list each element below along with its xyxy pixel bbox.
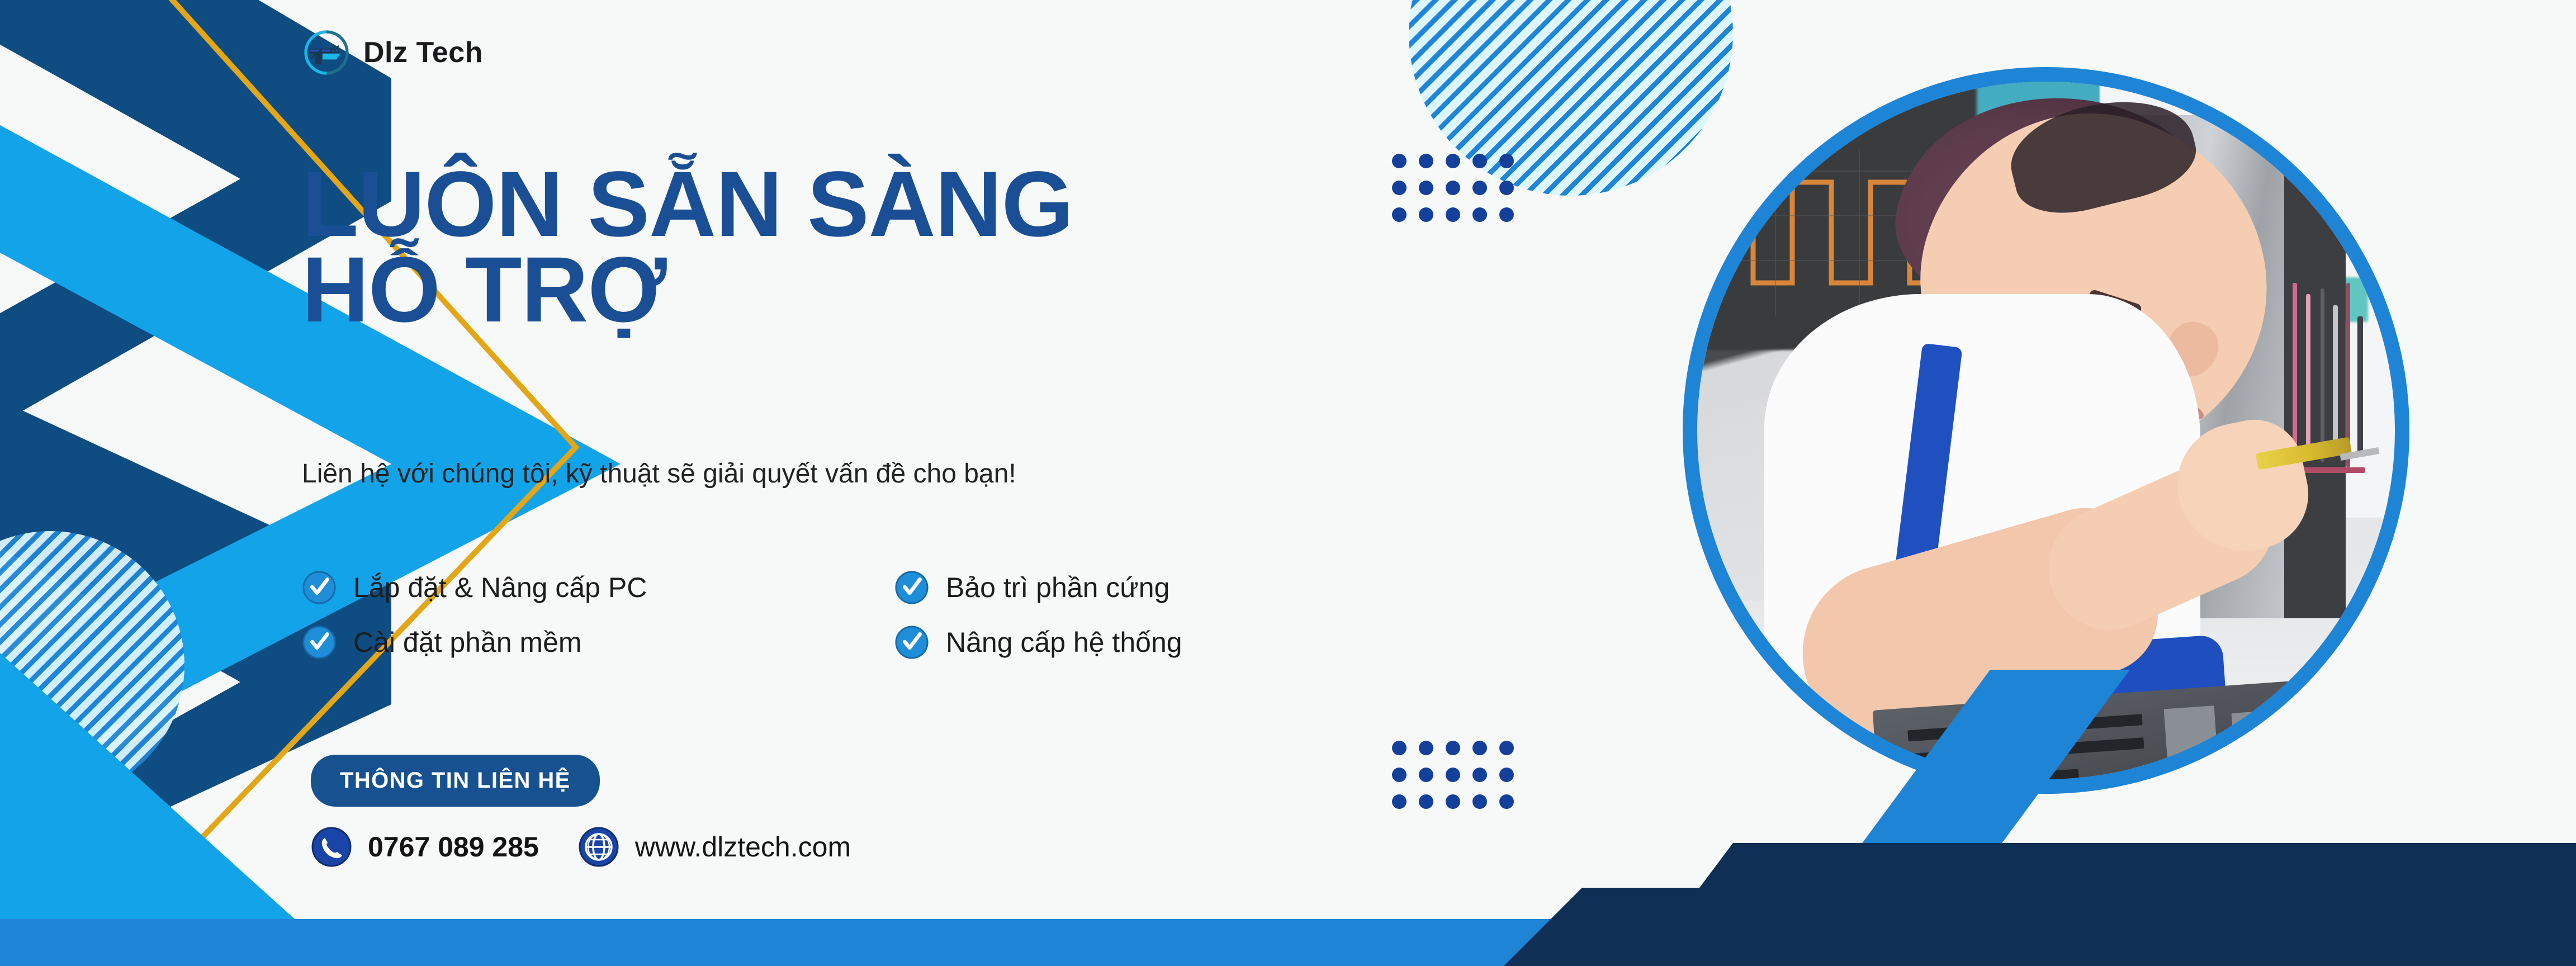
feature-item: Bảo trì phần cứng (894, 570, 1182, 605)
dot (1499, 154, 1514, 168)
dot (1499, 768, 1514, 782)
feature-label: Lắp đặt & Nâng cấp PC (353, 571, 647, 604)
logo[interactable]: Dlz Tech (302, 28, 483, 77)
feature-item: Cài đặt phần mềm (302, 625, 894, 660)
dot (1419, 154, 1433, 168)
dot-grid-top (1392, 154, 1514, 222)
check-circle-icon (894, 625, 929, 660)
contact-info-button[interactable]: THÔNG TIN LIÊN HỆ (311, 755, 600, 807)
dot (1472, 181, 1487, 195)
feature-label: Cài đặt phần mềm (353, 626, 582, 659)
phone-icon (311, 826, 352, 868)
website-contact[interactable]: www.dlztech.com (578, 826, 851, 868)
dot (1446, 154, 1460, 168)
website-url: www.dlztech.com (635, 831, 851, 863)
phone-number: 0767 089 285 (368, 831, 539, 863)
phone-contact[interactable]: 0767 089 285 (311, 826, 539, 868)
dot (1419, 768, 1433, 782)
page-title: LUÔN SẴN SÀNG HỖ TRỢ (302, 162, 1073, 333)
dot (1446, 181, 1460, 195)
feature-item: Nâng cấp hệ thống (894, 625, 1182, 660)
dot (1499, 181, 1514, 195)
dot (1499, 207, 1514, 222)
dot (1419, 207, 1433, 222)
feature-list: Lắp đặt & Nâng cấp PC Bảo trì phần cứng … (302, 570, 1182, 660)
dot (1446, 741, 1460, 755)
feature-label: Bảo trì phần cứng (946, 571, 1169, 604)
content-column: Dlz Tech LUÔN SẴN SÀNG HỖ TRỢ Liên hệ vớ… (0, 0, 1398, 966)
contact-row: 0767 089 285 www.dlztech.com (311, 826, 851, 868)
dot (1419, 181, 1433, 195)
dot (1419, 794, 1433, 809)
dot (1472, 794, 1487, 809)
subtitle: Liên hệ với chúng tôi, kỹ thuật sẽ giải … (302, 458, 1016, 489)
feature-item: Lắp đặt & Nâng cấp PC (302, 570, 894, 605)
dot (1446, 207, 1460, 222)
bottom-navy-band-lower (1481, 888, 2576, 966)
headline-line-2: HỖ TRỢ (302, 248, 1073, 333)
dot (1472, 741, 1487, 755)
banner-root: Dlz Tech LUÔN SẴN SÀNG HỖ TRỢ Liên hệ vớ… (0, 0, 2576, 966)
dot (1446, 768, 1460, 782)
feature-label: Nâng cấp hệ thống (946, 626, 1182, 659)
dot (1499, 741, 1514, 755)
dot (1499, 794, 1514, 809)
dot (1472, 207, 1487, 222)
dlz-circle-logo-icon (302, 28, 351, 77)
dot (1419, 741, 1433, 755)
check-circle-icon (302, 570, 337, 605)
dot (1472, 768, 1487, 782)
globe-icon (578, 826, 619, 868)
dot-grid-bottom (1392, 741, 1514, 809)
logo-text: Dlz Tech (363, 36, 483, 69)
dot (1446, 794, 1460, 809)
dot (1472, 154, 1487, 168)
check-circle-icon (894, 570, 929, 605)
check-circle-icon (302, 625, 337, 660)
